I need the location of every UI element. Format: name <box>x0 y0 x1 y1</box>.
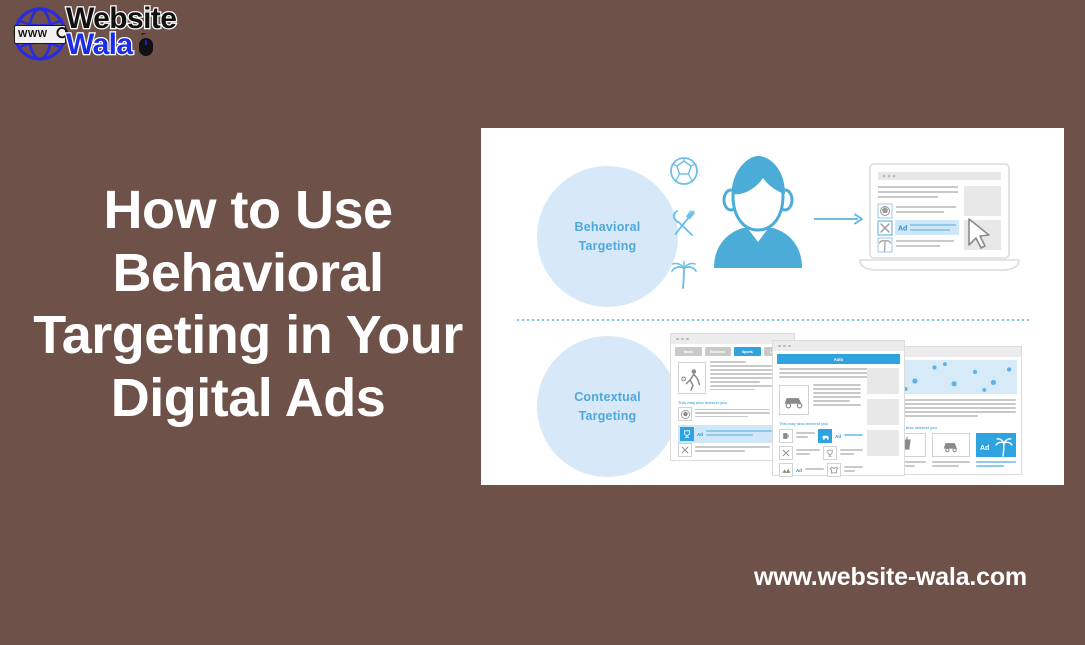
laptop-icon: Ad <box>856 162 1023 278</box>
person-avatar-icon <box>705 152 811 276</box>
ad-badge: Ad <box>796 468 802 473</box>
sidebar-box-1 <box>867 368 899 394</box>
logo-word-wala: Wala <box>66 31 176 60</box>
ad-text-lines <box>706 430 772 437</box>
contextual-label-line2: Targeting <box>579 407 637 425</box>
behavioral-targeting-bubble: Behavioral Targeting <box>537 166 678 307</box>
ad-text-lines <box>844 434 863 438</box>
soccer-ball-icon <box>669 156 699 186</box>
article-text-lines <box>888 399 1016 419</box>
section-divider <box>517 319 1029 321</box>
footer-website-url[interactable]: www.website-wala.com <box>754 563 1027 592</box>
computer-mouse-icon <box>138 33 154 57</box>
spoon-fork-icon <box>779 446 793 460</box>
svg-text:Ad: Ad <box>980 445 989 452</box>
behavioral-label-line2: Targeting <box>579 237 637 255</box>
suggestion-text-lines <box>844 466 863 473</box>
suggestion-text-lines <box>840 449 864 456</box>
tab-business[interactable]: Business <box>705 347 732 356</box>
sidebar-box-3 <box>867 430 899 456</box>
tab-news[interactable]: News <box>675 347 702 356</box>
soccer-ball-icon <box>678 407 692 421</box>
fuel-icon <box>779 429 793 443</box>
article-thumbnail <box>678 362 706 394</box>
spoon-fork-icon <box>678 443 692 457</box>
window-dots <box>676 338 689 341</box>
suggestion-tile-car[interactable] <box>932 433 970 457</box>
tab-sports[interactable]: Sports <box>734 347 761 356</box>
tile-caption-2 <box>932 461 970 469</box>
contextual-targeting-bubble: Contextual Targeting <box>537 336 678 477</box>
slide-canvas: WWW Website Wala How to Use Behavioral T… <box>0 0 1085 645</box>
suggestion-text-lines <box>796 449 820 456</box>
trophy-icon <box>680 427 694 441</box>
suggestion-text-lines <box>695 446 770 453</box>
interest-heading: This may also interest you <box>779 421 828 426</box>
palm-tree-icon <box>669 260 699 290</box>
behavioral-label-line1: Behavioral <box>575 218 641 236</box>
car-icon <box>780 386 808 414</box>
suggestion-text-lines <box>695 409 770 420</box>
suggestion-row-2[interactable] <box>779 446 863 460</box>
running-athlete-icon <box>679 363 705 393</box>
window-dots <box>778 345 791 348</box>
suggestion-text-lines <box>796 432 815 439</box>
sidebar-box-2 <box>867 399 899 425</box>
car-icon <box>933 434 969 456</box>
site-banner-auto: Auto <box>777 354 900 364</box>
auto-site-window[interactable]: Auto This may also interest <box>772 340 905 476</box>
contextual-label-line1: Contextual <box>574 388 641 406</box>
article-body-lines <box>813 384 861 408</box>
tile-caption-3 <box>976 461 1016 469</box>
travel-pattern-banner <box>886 360 1017 394</box>
ad-tile-travel[interactable]: Ad <box>976 433 1016 457</box>
suggestion-text-lines <box>805 468 824 472</box>
trophy-icon <box>823 446 837 460</box>
illustration-card: Behavioral Targeting <box>481 128 1064 485</box>
window-titlebar <box>773 341 904 351</box>
ad-suggestion-row[interactable]: Ad <box>678 425 774 443</box>
logo-search-text: WWW <box>15 30 48 40</box>
article-text-lines <box>710 361 772 393</box>
brand-logo[interactable]: WWW Website Wala <box>8 4 188 66</box>
shirt-icon <box>827 463 841 477</box>
suggestion-row-3[interactable] <box>678 443 770 457</box>
suggestion-row-3[interactable]: Ad <box>779 463 863 477</box>
car-icon <box>818 429 832 443</box>
ad-badge: Ad <box>697 432 703 437</box>
interest-heading: This may also interest you <box>678 400 727 405</box>
page-title: How to Use Behavioral Targeting in Your … <box>14 179 482 430</box>
palm-tree-icon: Ad <box>977 434 1017 458</box>
spoon-fork-icon <box>669 208 699 238</box>
suggestion-row-1[interactable] <box>678 407 770 421</box>
suggestion-row-1[interactable]: Ad <box>779 429 863 443</box>
svg-text:Ad: Ad <box>898 226 907 233</box>
logo-wordmark: Website Wala <box>66 5 176 60</box>
landscape-icon <box>779 463 793 477</box>
ad-badge: Ad <box>835 434 841 439</box>
article-thumbnail <box>779 385 809 415</box>
